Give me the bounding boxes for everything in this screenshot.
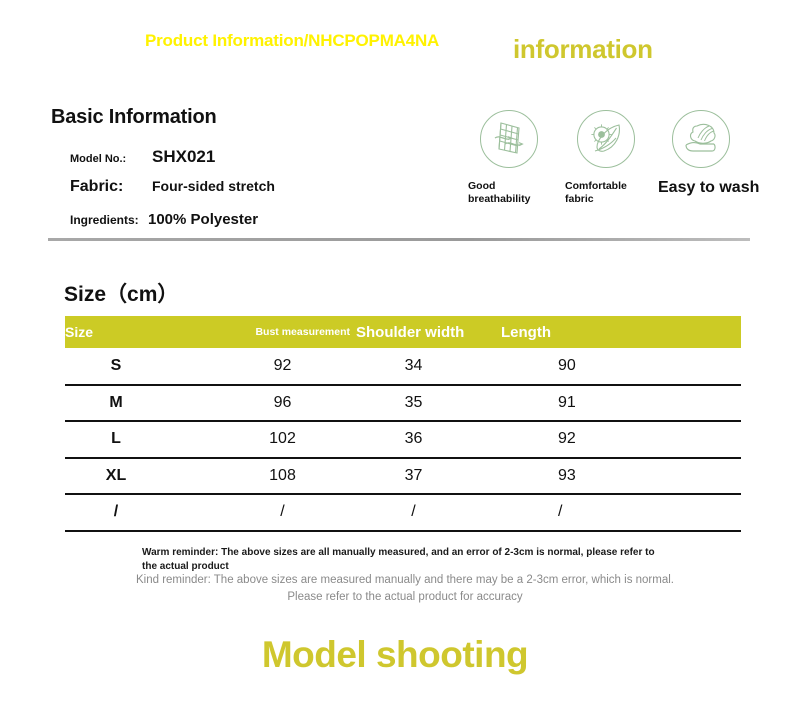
size-table-body: S 92 34 90 M 96 35 91 L 102 36 92 XL 108…: [65, 348, 741, 531]
size-section-heading: Size（cm）: [64, 278, 178, 308]
cell-length: 92: [501, 421, 741, 458]
cell-bust: 92: [215, 348, 356, 385]
page-title: Product Information/NHCPOPMA4NA: [145, 31, 439, 51]
size-table: Size Bust measurement Shoulder width Len…: [65, 316, 741, 532]
spec-value-model: SHX021: [152, 147, 215, 167]
cell-size: M: [65, 385, 215, 422]
column-header-size: Size: [65, 316, 215, 348]
feature-label-easy-wash: Easy to wash: [658, 178, 778, 198]
table-row: / / / /: [65, 494, 741, 531]
cell-shoulder: 37: [356, 458, 501, 495]
hand-wash-icon: [672, 110, 730, 168]
cell-shoulder: /: [356, 494, 501, 531]
cell-bust: 108: [215, 458, 356, 495]
cell-length: 90: [501, 348, 741, 385]
cell-bust: /: [215, 494, 356, 531]
cell-bust: 96: [215, 385, 356, 422]
spec-label-fabric: Fabric:: [70, 178, 152, 196]
feature-label-comfort: Comfortablefabric: [565, 180, 669, 206]
column-header-shoulder: Shoulder width: [356, 316, 501, 348]
cell-length: 91: [501, 385, 741, 422]
warm-reminder-text: Warm reminder: The above sizes are all m…: [142, 546, 662, 573]
cell-length: /: [501, 494, 741, 531]
cell-shoulder: 36: [356, 421, 501, 458]
section-divider: [48, 238, 750, 241]
feature-list: Goodbreathability: [462, 110, 782, 220]
cell-shoulder: 34: [356, 348, 501, 385]
table-row: L 102 36 92: [65, 421, 741, 458]
cell-size: /: [65, 494, 215, 531]
feature-item-comfort: Comfortablefabric: [565, 110, 669, 206]
model-shooting-title: Model shooting: [0, 634, 790, 676]
page-subtitle: information: [513, 34, 653, 65]
basic-information-heading: Basic Information: [51, 106, 217, 129]
size-table-header: Size Bust measurement Shoulder width Len…: [65, 316, 741, 348]
table-row: S 92 34 90: [65, 348, 741, 385]
feather-comfort-icon: [577, 110, 635, 168]
table-row: M 96 35 91: [65, 385, 741, 422]
column-header-length: Length: [501, 316, 741, 348]
spec-row-fabric: Fabric: Four-sided stretch: [70, 178, 275, 196]
cell-size: XL: [65, 458, 215, 495]
cell-length: 93: [501, 458, 741, 495]
column-header-bust: Bust measurement: [215, 316, 356, 348]
table-header-row: Size Bust measurement Shoulder width Len…: [65, 316, 741, 348]
cell-size: L: [65, 421, 215, 458]
spec-label-model: Model No.:: [70, 153, 152, 165]
feature-item-breathability: Goodbreathability: [468, 110, 572, 206]
table-row: XL 108 37 93: [65, 458, 741, 495]
spec-label-ingredients: Ingredients:: [70, 213, 148, 227]
spec-row-model: Model No.: SHX021: [70, 147, 215, 167]
spec-value-fabric: Four-sided stretch: [152, 178, 275, 194]
cell-bust: 102: [215, 421, 356, 458]
feature-item-easy-wash: Easy to wash: [658, 110, 778, 198]
cell-size: S: [65, 348, 215, 385]
spec-row-ingredients: Ingredients: 100% Polyester: [70, 211, 258, 228]
cell-shoulder: 35: [356, 385, 501, 422]
spec-value-ingredients: 100% Polyester: [148, 211, 258, 228]
kind-reminder-text: Kind reminder: The above sizes are measu…: [120, 572, 690, 605]
feature-label-breathability: Goodbreathability: [468, 180, 572, 206]
page-header: Product Information/NHCPOPMA4NA informat…: [0, 0, 790, 100]
breathable-mesh-icon: [480, 110, 538, 168]
